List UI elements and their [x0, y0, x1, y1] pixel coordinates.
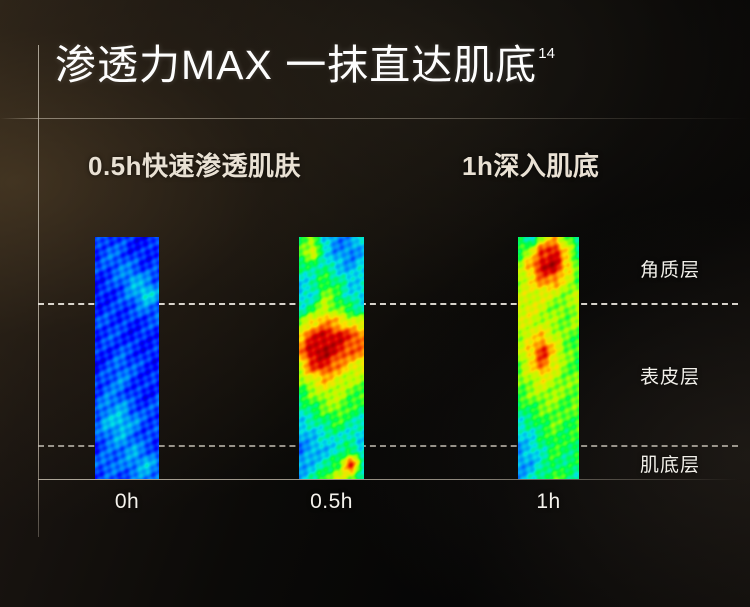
subtitle-one-hour-lead: 1h [462, 151, 493, 181]
header-divider [0, 118, 750, 119]
page-title-text: 渗透力MAX 一抹直达肌底 [38, 38, 537, 92]
layer-label-basal: 肌底层 [640, 450, 700, 477]
subtitle-half-hour-lead: 0.5h [88, 151, 142, 181]
heatmap-canvas-0h [95, 237, 159, 479]
subtitle-half-hour-rest: 快速渗透肌肤 [142, 151, 301, 181]
subtitle-one-hour-rest: 深入肌底 [493, 151, 599, 181]
heatmap-column-0.5h [299, 237, 364, 479]
heatmap-canvas-1h [518, 237, 579, 479]
layer-label-epidermis: 表皮层 [640, 362, 700, 389]
layer-label-stratum-corneum: 角质层 [640, 255, 700, 282]
heatmap-column-1h [518, 237, 579, 479]
x-tick-label-0.5h: 0.5h [299, 490, 364, 514]
penetration-heatmap-infographic: 渗透力MAX 一抹直达肌底 14 0.5h快速渗透肌肤 1h深入肌底 角质层 表… [0, 0, 750, 607]
heatmap-canvas-0.5h [299, 237, 364, 479]
x-tick-label-0h: 0h [95, 490, 159, 514]
heatmap-column-0h [95, 237, 159, 479]
page-title-superscript: 14 [538, 46, 555, 61]
x-tick-label-1h: 1h [518, 490, 579, 514]
subtitle-one-hour: 1h深入肌底 [462, 146, 599, 183]
chart-x-axis-line [38, 479, 738, 480]
chart-y-axis-line [38, 45, 39, 537]
page-title: 渗透力MAX 一抹直达肌底 14 [38, 38, 555, 92]
subtitle-half-hour: 0.5h快速渗透肌肤 [88, 146, 301, 183]
